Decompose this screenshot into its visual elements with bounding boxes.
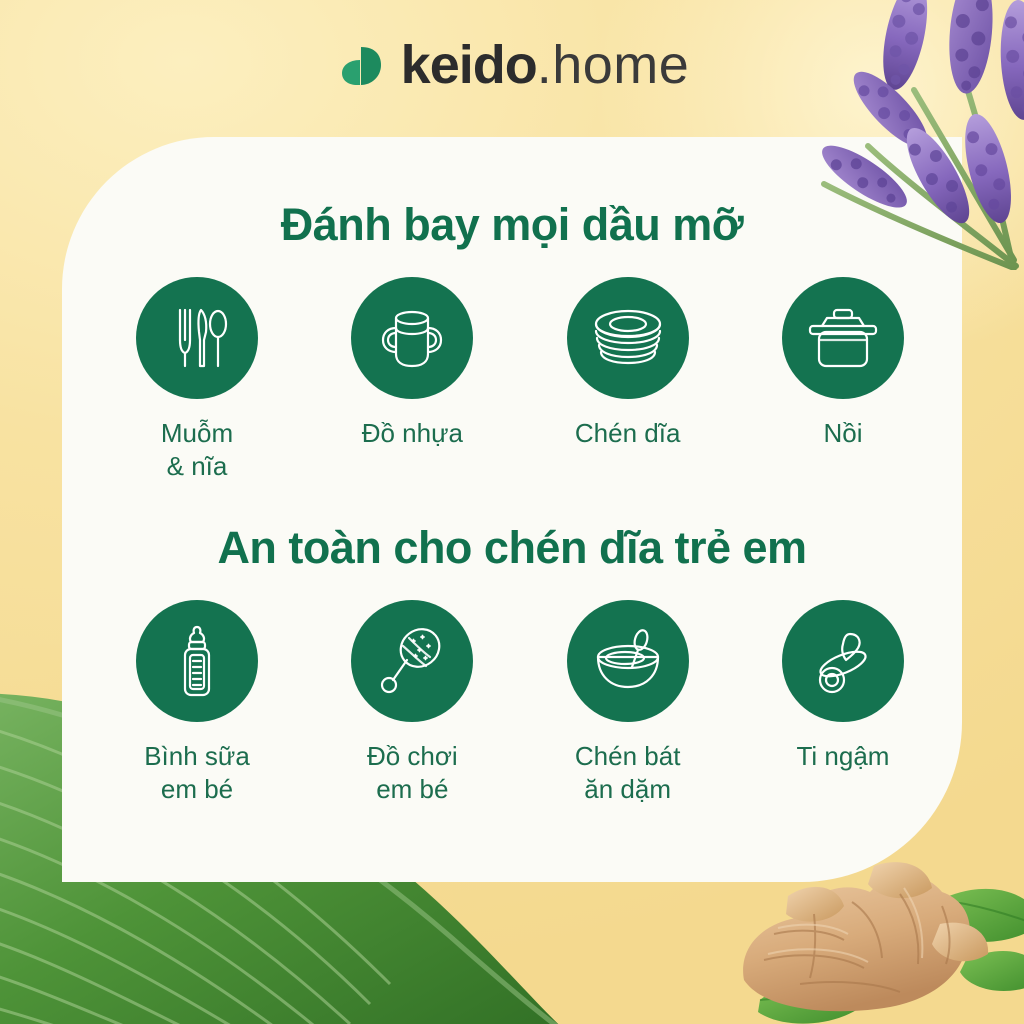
feature-label: Đồ nhựa	[362, 417, 463, 450]
feature-dishes[interactable]: Chén dĩa	[535, 277, 721, 450]
feature-baby-bottle[interactable]: Bình sữa em bé	[104, 600, 290, 805]
feature-label: Đồ chơi em bé	[367, 740, 458, 805]
feature-label: Ti ngậm	[797, 740, 890, 773]
feature-label: Muỗm & nĩa	[161, 417, 233, 482]
brand-wordmark: keido.home	[401, 38, 690, 92]
feature-label: Nồi	[823, 417, 862, 450]
feature-pacifier[interactable]: Ti ngậm	[750, 600, 936, 773]
content-card: Đánh bay mọi dầu mỡ Muỗm &	[62, 137, 962, 882]
section-1-heading: Đánh bay mọi dầu mỡ	[62, 199, 962, 251]
brand-name-thin: .home	[537, 35, 690, 95]
brand-name-bold: keido	[401, 35, 537, 95]
feature-plasticware[interactable]: Đồ nhựa	[319, 277, 505, 450]
section-2-heading: An toàn cho chén dĩa trẻ em	[62, 522, 962, 574]
brand-header: keido.home	[0, 38, 1024, 92]
sippy-cup-icon	[351, 277, 473, 399]
feature-row-2: Bình sữa em bé	[104, 600, 936, 805]
pacifier-icon	[782, 600, 904, 722]
bowl-spoon-icon	[567, 600, 689, 722]
feature-label: Chén bát ăn dặm	[575, 740, 681, 805]
feature-row-1: Muỗm & nĩa Đồ nhựa	[104, 277, 936, 482]
cutlery-icon	[136, 277, 258, 399]
feature-label: Bình sữa em bé	[144, 740, 250, 805]
feature-pot[interactable]: Nồi	[750, 277, 936, 450]
pot-icon	[782, 277, 904, 399]
poster-canvas: keido.home	[0, 0, 1024, 1024]
baby-rattle-icon	[351, 600, 473, 722]
baby-bottle-icon	[136, 600, 258, 722]
plate-stack-icon	[567, 277, 689, 399]
feature-cutlery[interactable]: Muỗm & nĩa	[104, 277, 290, 482]
feature-baby-toys[interactable]: Đồ chơi em bé	[319, 600, 505, 805]
feature-weaning-bowl[interactable]: Chén bát ăn dặm	[535, 600, 721, 805]
two-leaf-icon	[335, 39, 387, 91]
feature-label: Chén dĩa	[575, 417, 681, 450]
